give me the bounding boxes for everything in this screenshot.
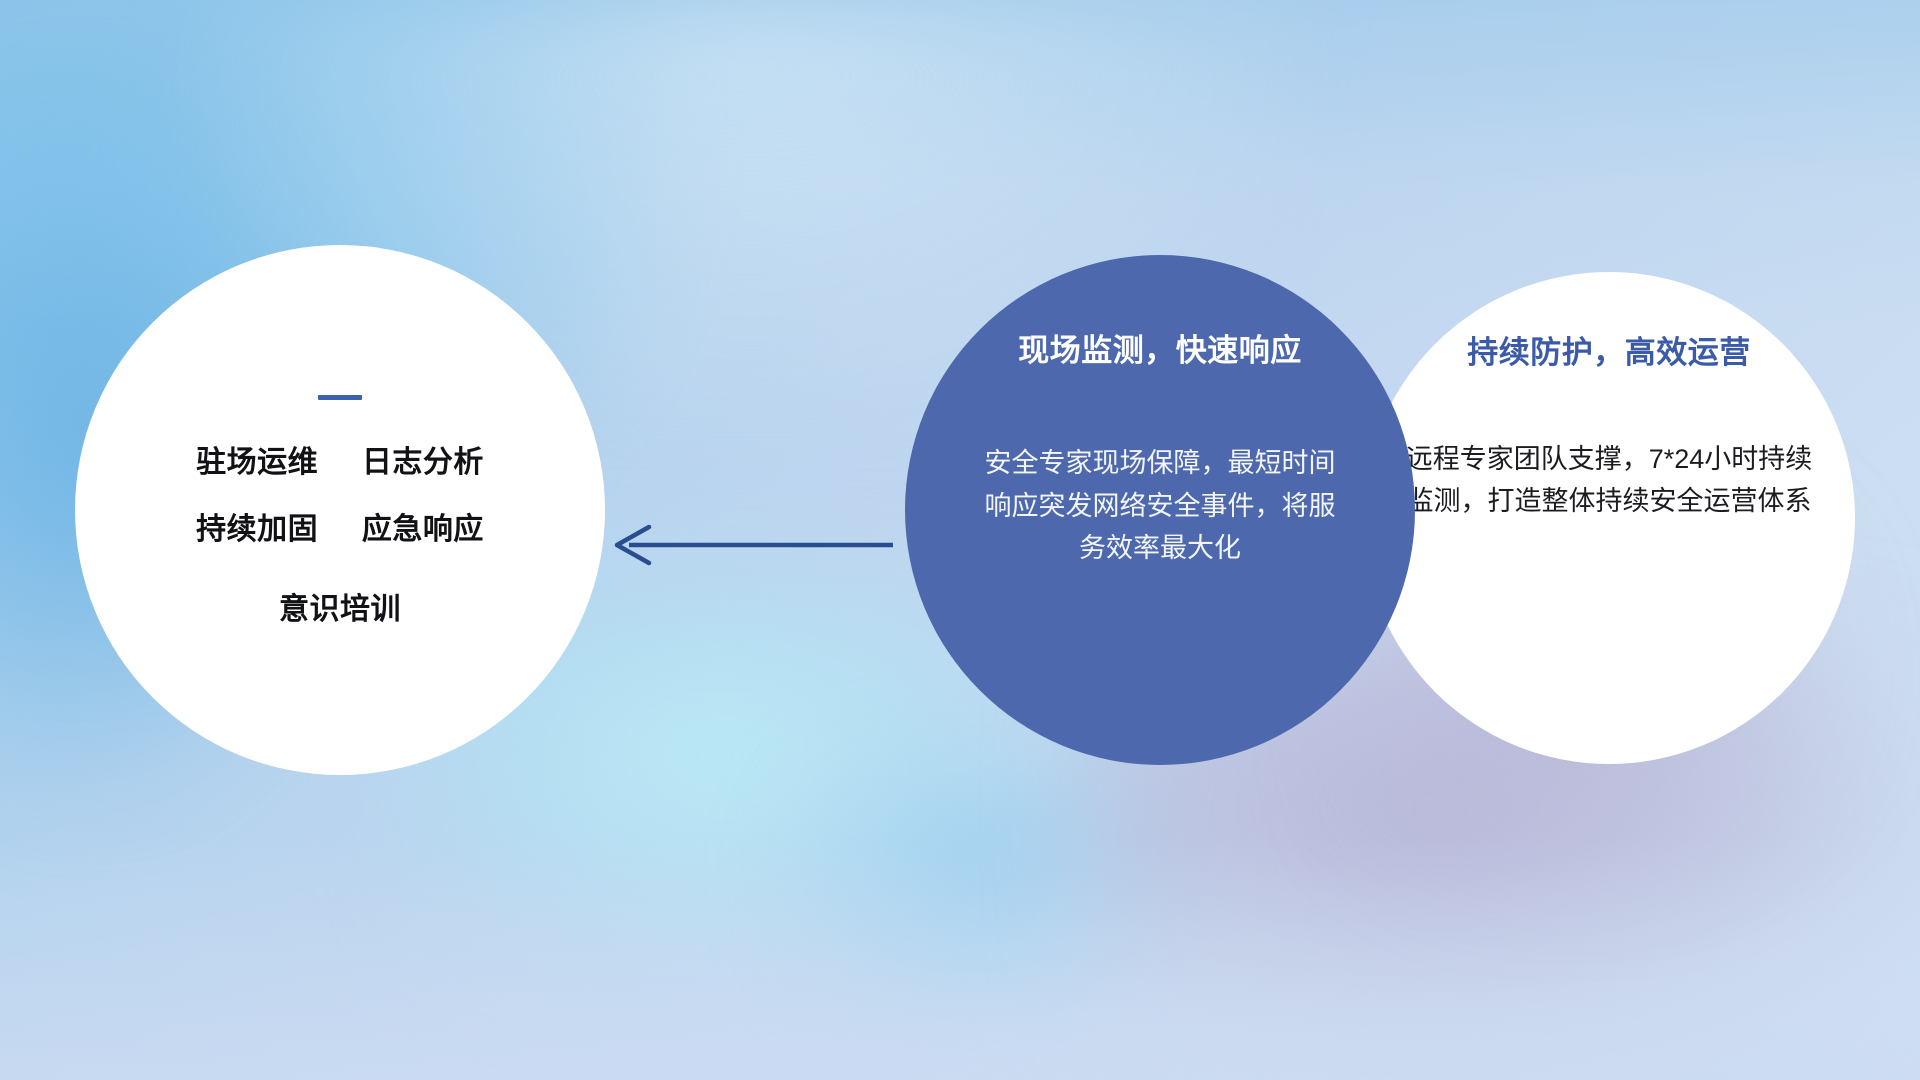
node-title-onsite-monitoring: 现场监测，快速响应	[1018, 325, 1302, 370]
capability-continuous-hardening: 持续加固	[196, 513, 318, 546]
capability-row-2: 持续加固 应急响应	[196, 515, 484, 545]
capability-log-analysis: 日志分析	[362, 446, 484, 479]
node-title-continuous-protection: 持续防护，高效运营	[1467, 327, 1751, 372]
node-onsite-capabilities[interactable]: 驻场运维 日志分析 持续加固 应急响应 意识培训	[75, 245, 605, 775]
capability-emergency-response: 应急响应	[362, 513, 484, 546]
divider-dash	[318, 395, 362, 400]
capability-awareness-training: 意识培训	[279, 595, 401, 625]
flow-arrow-shape	[617, 527, 893, 563]
node-onsite-monitoring[interactable]: 现场监测，快速响应 安全专家现场保障，最短时间响应突发网络安全事件，将服务效率最…	[905, 255, 1415, 765]
diagram-canvas: 驻场运维 日志分析 持续加固 应急响应 意识培训 现场监测，快速响应 安全专家现…	[0, 0, 1920, 1080]
capability-row-1: 驻场运维 日志分析	[196, 448, 484, 478]
capability-onsite-ops: 驻场运维	[196, 446, 318, 479]
node-body-onsite-monitoring: 安全专家现场保障，最短时间响应突发网络安全事件，将服务效率最大化	[974, 442, 1346, 570]
node-body-continuous-protection: 远程专家团队支撑，7*24小时持续监测，打造整体持续安全运营体系	[1399, 438, 1819, 522]
flow-arrow	[595, 505, 895, 585]
node-continuous-protection[interactable]: 持续防护，高效运营 远程专家团队支撑，7*24小时持续监测，打造整体持续安全运营…	[1363, 272, 1855, 764]
